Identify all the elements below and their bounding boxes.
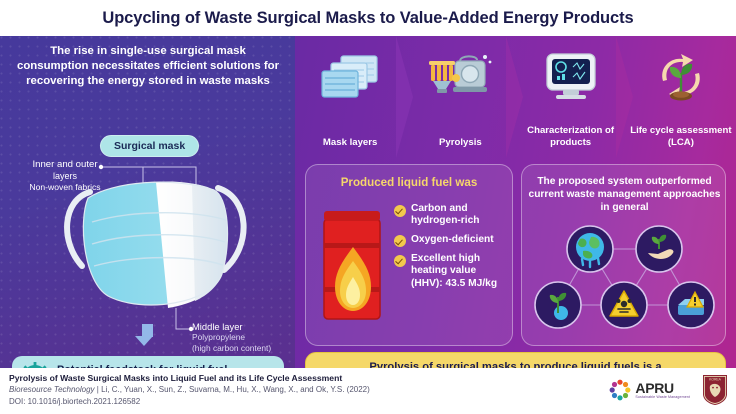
banner-line1: Pyrolysis of surgical masks to produce l… (348, 360, 683, 369)
produced-fuel-card: Produced liquid fuel was Carbon and hydr… (305, 164, 513, 346)
fuel-bullet-3: Excellent high heating value (HHV): 43.5… (411, 253, 509, 290)
apru-tagline: Sustainable Waste Management (635, 396, 690, 400)
page-title: Upcycling of Waste Surgical Masks to Val… (102, 9, 633, 28)
mask-layers-icon (319, 49, 381, 105)
process-step-characterization[interactable]: Characterization of products (516, 36, 626, 158)
footer-journal: Bioresource Technology (9, 385, 95, 394)
process-step-lca[interactable]: Life cycle assessment (LCA) (626, 36, 736, 158)
title-bar: Upcycling of Waste Surgical Masks to Val… (0, 0, 736, 36)
process-step-pyrolysis[interactable]: Pyrolysis (405, 36, 515, 158)
apru-ring-icon (609, 379, 631, 401)
system-performance-card: The proposed system outperformed current… (521, 164, 726, 346)
chevron-separator-2 (506, 36, 523, 158)
fuel-card-heading: Produced liquid fuel was (306, 176, 512, 189)
middle-layer-label: Middle layer Polypropylene (high carbon … (192, 321, 292, 354)
middle-label-line2: Polypropylene (192, 332, 292, 343)
hand-sprout-icon (636, 226, 682, 272)
check-circle-icon (394, 235, 406, 247)
right-column: Mask layers (295, 36, 736, 368)
analysis-monitor-icon (543, 49, 599, 105)
list-item: Oxygen-deficient (394, 234, 509, 248)
footer-logos: APRU Sustainable Waste Management KOREA (609, 372, 728, 408)
fuel-bullet-2: Oxygen-deficient (411, 234, 494, 246)
list-item: Carbon and hydrogen-rich (394, 203, 509, 228)
process-strip: Mask layers (295, 36, 736, 158)
landfill-warning-icon (668, 282, 714, 328)
fuel-drum-flame-icon (318, 209, 388, 327)
process-label-lca: Life cycle assessment (LCA) (626, 125, 736, 148)
footer-doi: DOI: 10.1016/j.biortech.2021.126582 (9, 397, 140, 406)
chevron-separator-1 (396, 36, 413, 158)
footer-citation: Bioresource Technology | Li, C., Yuan, X… (9, 385, 370, 394)
process-step-mask-layers[interactable]: Mask layers (295, 36, 405, 158)
plant-recycle-icon (653, 49, 709, 105)
check-circle-icon (394, 205, 406, 217)
process-label-pyrolysis: Pyrolysis (405, 137, 515, 149)
fuel-bullet-1: Carbon and hydrogen-rich (411, 203, 509, 228)
left-panel: The rise in single-use surgical mask con… (0, 36, 295, 368)
middle-label-line3: (high carbon content) (192, 343, 292, 354)
process-label-mask-layers: Mask layers (295, 137, 405, 149)
korea-university-logo: KOREA (702, 374, 728, 406)
sprout-globe-icon (535, 282, 581, 328)
footer: Pyrolysis of Waste Surgical Masks into L… (0, 368, 736, 414)
infographic-body: The rise in single-use surgical mask con… (0, 36, 736, 368)
footer-paper-title: Pyrolysis of Waste Surgical Masks into L… (9, 373, 342, 383)
surgical-mask-illustration (52, 170, 257, 320)
infographic-page: Upcycling of Waste Surgical Masks to Val… (0, 0, 736, 414)
svg-text:KOREA: KOREA (709, 377, 722, 381)
apru-logo: APRU Sustainable Waste Management (609, 379, 690, 401)
pyrolysis-reactor-icon (425, 49, 495, 105)
apru-name: APRU (635, 381, 690, 395)
banner-text: Pyrolysis of surgical masks to produce l… (338, 360, 693, 369)
process-label-characterization: Characterization of products (516, 125, 626, 148)
toxic-hazard-icon (601, 282, 647, 328)
check-circle-icon (394, 255, 406, 267)
apru-wordmark: APRU Sustainable Waste Management (635, 381, 690, 400)
footer-authors: | Li, C., Yuan, X., Sun, Z., Suvarna, M.… (95, 385, 370, 394)
feedstock-callout: Potential feedstock for liquid fuel synt… (12, 356, 284, 368)
system-card-heading: The proposed system outperformed current… (528, 175, 721, 214)
fuel-bullet-list: Carbon and hydrogen-rich Oxygen-deficien… (394, 203, 509, 296)
melting-globe-icon (567, 226, 613, 272)
list-item: Excellent high heating value (HHV): 43.5… (394, 253, 509, 290)
middle-label-line1: Middle layer (192, 321, 243, 332)
conclusion-banner: Pyrolysis of surgical masks to produce l… (305, 352, 726, 368)
system-network-diagram (528, 217, 721, 335)
chevron-separator-3 (616, 36, 633, 158)
